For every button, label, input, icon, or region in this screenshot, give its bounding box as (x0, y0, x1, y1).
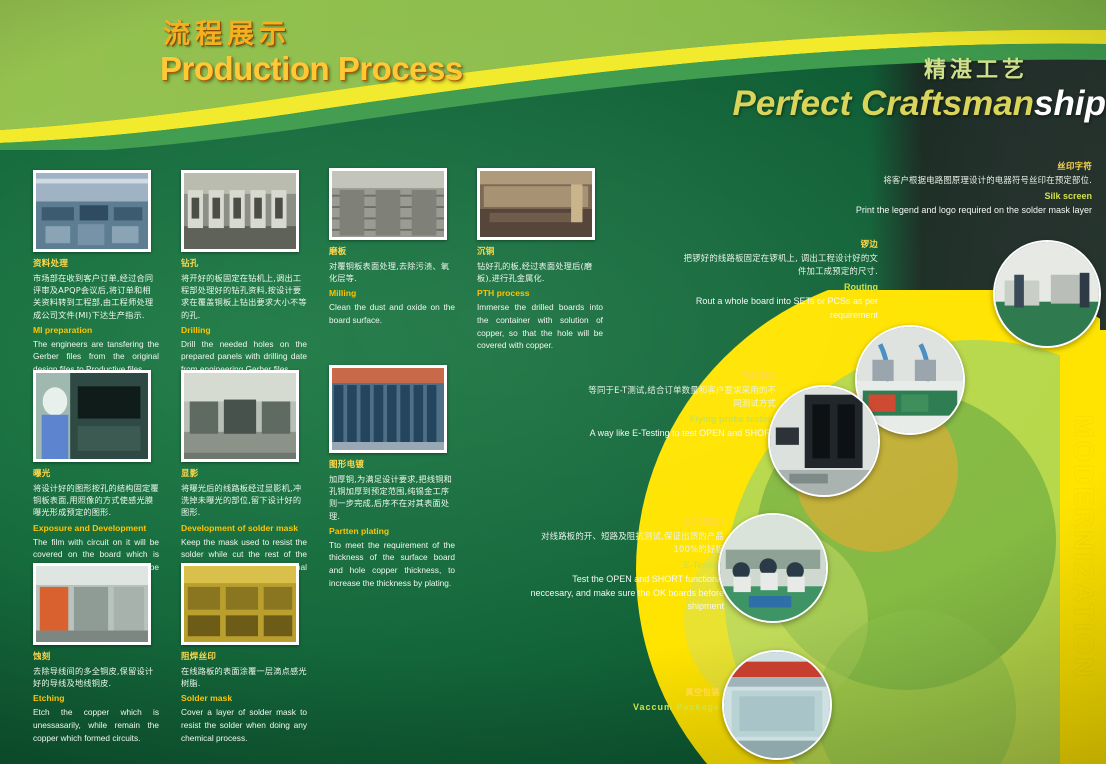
step-body-cn: 把锣好的线路板固定在锣机上, 调出工程设计好的文件加工成预定的尺寸. (678, 252, 878, 278)
step-heading-en: Etching (33, 692, 159, 705)
partten-plating-photo (329, 365, 447, 453)
step-body-cn: 将客户根据电路图原理设计的电器符号丝印在预定部位. (842, 174, 1092, 187)
step-heading-cn: 锣边 (678, 238, 878, 250)
step-heading-cn: 资料处理 (33, 258, 159, 270)
step-heading-en: E-Testing (529, 559, 724, 572)
development-solder-mask-photo (181, 370, 299, 462)
step-card-mi-preparation: 资料处理 市场部在收到客户订单,经过合同评审及APQP会议后,将订单和相关资料转… (33, 170, 159, 376)
step-heading-cn: 飞针测试 (586, 370, 776, 382)
step-heading-cn: 磨板 (329, 246, 455, 258)
step-card-milling: 磨板 对覆铜板表面处理,去除污渍、氧化层等. Milling Clean the… (329, 168, 455, 327)
step-body-en: Print the legend and logo required on th… (842, 204, 1092, 218)
step-heading-cn: E-T(测试) (529, 516, 724, 528)
step-body-cn: 钻好孔的板,经过表面处理后(磨板),进行孔金属化. (477, 260, 603, 284)
step-heading-en: Silk screen (842, 190, 1092, 203)
step-heading-cn: 丝印字符 (842, 160, 1092, 172)
step-card-solder-mask: 阻焊丝印 在线路板的表面涂覆一层滴点感光树脂. Solder mask Cove… (181, 563, 307, 744)
step-body-en: A way like E-Testing to test OPEN and SH… (586, 427, 776, 441)
subtitle-en-tail: ship (1034, 84, 1106, 123)
step-heading-cn: 蚀刻 (33, 651, 159, 663)
step-body-cn: 去除导线间的多全铜皮,保留设计好的导线及地线铜皮. (33, 665, 159, 689)
step-body-cn: 将开好的板固定在钻机上,调出工程部处理好的钻孔资料,按设计要求在覆盖铜板上钻出要… (181, 272, 307, 321)
milling-photo (329, 168, 447, 240)
step-card-pth-process: 沉铜 钻好孔的板,经过表面处理后(磨板),进行孔金属化. PTH process… (477, 168, 603, 352)
step-heading-en: Milling (329, 287, 455, 300)
silk-screen-circle-photo (993, 240, 1101, 348)
step-heading-cn: 钻孔 (181, 258, 307, 270)
step-body-en: Tto meet the requirement of the thicknes… (329, 539, 455, 589)
step-body-cn: 将曝光后的线路板经过显影机,冲洗掉未曝光的部位,留下设计好的图形. (181, 482, 307, 519)
step-heading-cn: 图形电镀 (329, 459, 455, 471)
step-heading-cn: 真空包装 (600, 686, 720, 698)
step-body-cn: 将设计好的图形按孔的结构固定覆铜板表面,用照像的方式使感光膜曝光形成预定的图形. (33, 482, 159, 519)
step-block-vaccum-package: 真空包装 Vaccum Package (600, 686, 720, 714)
step-heading-en: Solder mask (181, 692, 307, 705)
mi-preparation-photo (33, 170, 151, 252)
exposure-development-photo (33, 370, 151, 462)
step-block-e-testing: E-T(测试) 对线路板的开、短路及阻抗测试,保证出货的产品100%的好板 E-… (529, 516, 724, 614)
step-body-en: Immerse the drilled boards into the cont… (477, 301, 603, 351)
page-title-cn: 流程展示 (163, 12, 291, 51)
step-block-flying-probe: 飞针测试 等同于E-T测试,结合订单数量和客户要求采用的不同测试方式 Flyin… (586, 370, 776, 441)
step-heading-en: MI preparation (33, 324, 159, 337)
step-body-cn: 等同于E-T测试,结合订单数量和客户要求采用的不同测试方式 (586, 384, 776, 410)
page-title-en: Production Process (160, 50, 463, 88)
pth-process-photo (477, 168, 595, 240)
step-heading-en: PTH process (477, 287, 603, 300)
flying-probe-circle-photo (768, 385, 880, 497)
step-heading-cn: 曝光 (33, 468, 159, 480)
etching-photo (33, 563, 151, 645)
step-heading-cn: 显影 (181, 468, 307, 480)
step-body-en: Rout a whole board into SETs or PCSs as … (678, 295, 878, 322)
step-block-silk-screen: 丝印字符 将客户根据电路图原理设计的电器符号丝印在预定部位. Silk scre… (842, 160, 1092, 218)
step-body-cn: 市场部在收到客户订单,经过合同评审及APQP会议后,将订单和相关资料转到工程部,… (33, 272, 159, 321)
step-body-cn: 在线路板的表面涂覆一层滴点感光树脂. (181, 665, 307, 689)
subtitle-cn: 精湛工艺 (924, 52, 1028, 84)
step-heading-en: Vaccum Package (600, 701, 720, 714)
drilling-photo (181, 170, 299, 252)
step-body-en: Etch the copper which is unessasarily, w… (33, 706, 159, 744)
step-body-en: Clean the dust and oxide on the board su… (329, 301, 455, 326)
step-card-etching: 蚀刻 去除导线间的多全铜皮,保留设计好的导线及地线铜皮. Etching Etc… (33, 563, 159, 744)
step-card-drilling: 钻孔 将开好的板固定在钻机上,调出工程部处理好的钻孔资料,按设计要求在覆盖铜板上… (181, 170, 307, 376)
step-body-cn: 对线路板的开、短路及阻抗测试,保证出货的产品100%的好板 (529, 530, 724, 556)
solder-mask-photo (181, 563, 299, 645)
e-testing-circle-photo (718, 513, 828, 623)
step-body-cn: 对覆铜板表面处理,去除污渍、氧化层等. (329, 260, 455, 284)
step-heading-cn: 沉铜 (477, 246, 603, 258)
step-body-en: Cover a layer of solder mask to resist t… (181, 706, 307, 744)
step-body-cn: 加厚铜,为满足设计要求,把线铜和孔铜加厚到预定范围,纯锡金工序则一步完成,后序不… (329, 473, 455, 522)
step-heading-cn: 阻焊丝印 (181, 651, 307, 663)
vaccum-package-circle-photo (722, 650, 832, 760)
step-body-en: Test the OPEN and SHORT functional necce… (529, 573, 724, 614)
subtitle-en-main: Perfect Craftsman (733, 84, 1035, 123)
step-heading-en: Routing (678, 281, 878, 294)
step-card-partten-plating: 图形电镀 加厚铜,为满足设计要求,把线铜和孔铜加厚到预定范围,纯锡金工序则一步完… (329, 365, 455, 589)
step-card-development-solder-mask: 显影 将曝光后的线路板经过显影机,冲洗掉未曝光的部位,留下设计好的图形. Dev… (181, 370, 307, 586)
subtitle-en: Perfect Craftsmanship (733, 84, 1106, 124)
step-block-routing: 锣边 把锣好的线路板固定在锣机上, 调出工程设计好的文件加工成预定的尺寸. Ro… (678, 238, 878, 322)
poster-page: MODERNIZATION 流程展示 Production Process 精湛… (0, 0, 1106, 764)
step-card-exposure-development: 曝光 将设计好的图形按孔的结构固定覆铜板表面,用照像的方式使感光膜曝光形成预定的… (33, 370, 159, 586)
step-heading-en: Exposure and Development (33, 522, 159, 535)
step-heading-en: Drilling (181, 324, 307, 337)
step-heading-en: Development of solder mask (181, 522, 307, 535)
step-heading-en: Flying probe testing (586, 413, 776, 426)
step-heading-en: Partten plating (329, 525, 455, 538)
